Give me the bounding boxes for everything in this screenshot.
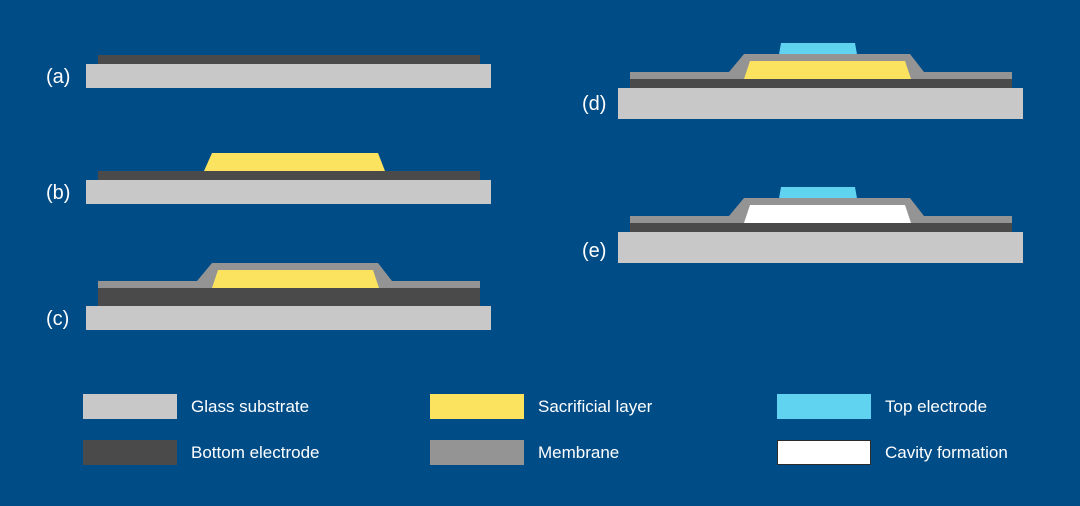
panel-d-bottom-electrode <box>630 79 1012 88</box>
panel-e-label: (e) <box>582 240 606 262</box>
panel-c-label: (c) <box>46 308 69 330</box>
legend-swatch-cavity-formation <box>777 440 871 465</box>
panel-d: (d) <box>582 43 1023 119</box>
panel-e-bottom-electrode <box>630 223 1012 232</box>
legend-label-bottom-electrode: Bottom electrode <box>191 444 320 461</box>
panel-e-glass-substrate <box>618 232 1023 263</box>
legend-label-sacrificial-layer: Sacrificial layer <box>538 398 652 415</box>
process-flow-diagram: (a) (b) (c) (d) <box>0 0 1080 506</box>
process-flow-figure: (a) (b) (c) (d) <box>0 0 1080 506</box>
panel-a: (a) <box>46 55 491 88</box>
legend-swatch-top-electrode <box>777 394 871 419</box>
legend-label-glass-substrate: Glass substrate <box>191 398 309 415</box>
panel-d-sacrificial-layer <box>744 61 911 79</box>
panel-e-cavity-formation <box>744 205 911 223</box>
panel-b-glass-substrate <box>86 180 491 204</box>
panel-a-label: (a) <box>46 66 70 88</box>
panel-b-label: (b) <box>46 182 70 204</box>
panel-b: (b) <box>46 153 491 204</box>
legend-swatch-membrane <box>430 440 524 465</box>
legend-label-membrane: Membrane <box>538 444 619 461</box>
legend-swatch-glass-substrate <box>83 394 177 419</box>
legend-swatch-bottom-electrode <box>83 440 177 465</box>
panel-c-glass-substrate <box>86 306 491 330</box>
panel-a-bottom-electrode <box>98 55 480 64</box>
panel-a-glass-substrate <box>86 64 491 88</box>
panel-d-label: (d) <box>582 93 606 115</box>
panel-c-bottom-electrode <box>98 288 480 306</box>
legend-swatch-sacrificial-layer <box>430 394 524 419</box>
panel-d-glass-substrate <box>618 88 1023 119</box>
legend-label-cavity-formation: Cavity formation <box>885 444 1008 461</box>
panel-e: (e) <box>582 187 1023 263</box>
panel-b-bottom-electrode <box>98 171 480 180</box>
legend-label-top-electrode: Top electrode <box>885 398 987 415</box>
panel-c: (c) <box>46 263 491 330</box>
panel-b-sacrificial-layer <box>204 153 385 171</box>
panel-c-sacrificial-layer <box>212 270 379 288</box>
